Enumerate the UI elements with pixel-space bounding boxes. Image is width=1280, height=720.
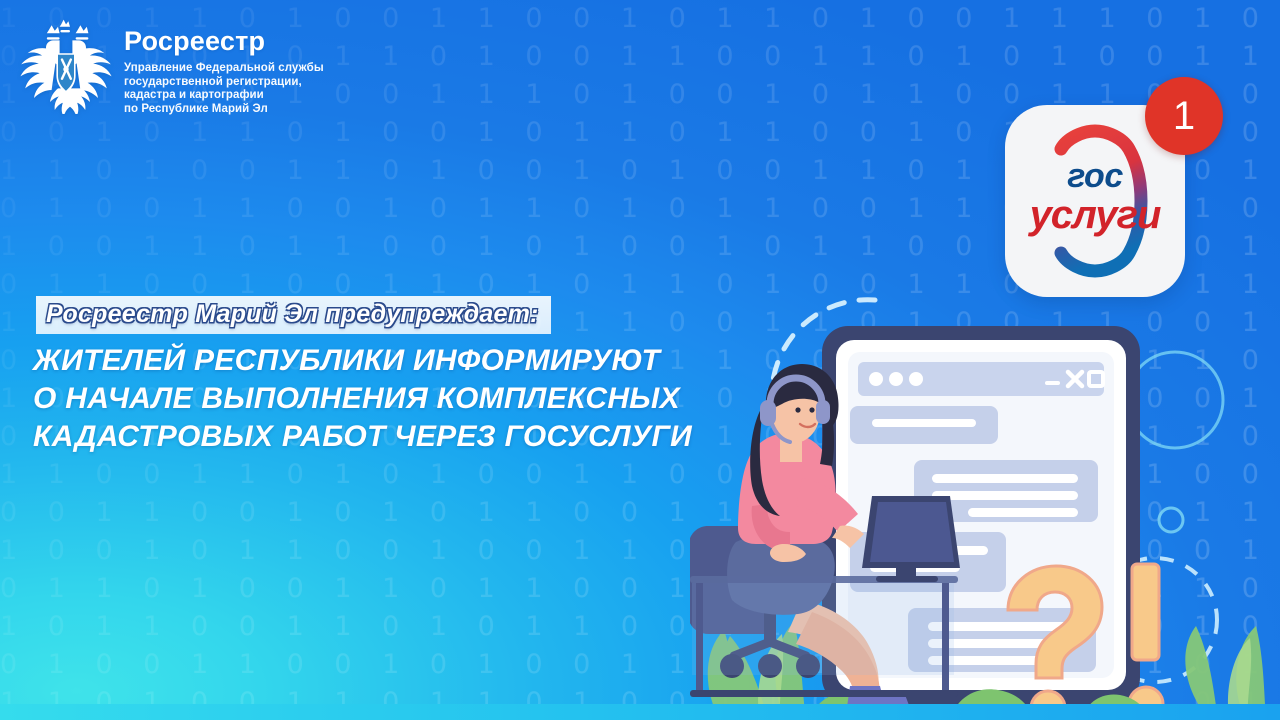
gosuslugi-app-icon[interactable]: гос услуги 1 xyxy=(1005,105,1185,297)
brand-subtitle-line-1: Управление Федеральной службы xyxy=(124,62,324,76)
brand-subtitle-line-4: по Республике Марий Эл xyxy=(124,103,324,117)
notification-badge[interactable]: 1 xyxy=(1145,77,1223,155)
headline: ЖИТЕЛЕЙ РЕСПУБЛИКИ ИНФОРМИРУЮТ О НАЧАЛЕ … xyxy=(33,342,692,456)
kicker-text: Росреестр Марий Эл предупреждает: xyxy=(46,300,539,328)
window-dot-1 xyxy=(869,372,883,386)
banner-canvas: 1 0 0 1 1 0 1 0 0 1 1 0 0 1 0 1 1 0 1 0 … xyxy=(0,0,1280,720)
brand-subtitle: Управление Федеральной службы государств… xyxy=(124,62,324,116)
brand-subtitle-line-3: кадастра и картографии xyxy=(124,89,324,103)
kicker-banner: Росреестр Марий Эл предупреждает: xyxy=(36,296,551,334)
headline-line-1: ЖИТЕЛЕЙ РЕСПУБЛИКИ ИНФОРМИРУЮТ xyxy=(33,342,692,380)
bottom-strip xyxy=(0,704,1280,720)
window-dot-3 xyxy=(909,372,923,386)
brand-title: Росреестр xyxy=(124,28,324,55)
brand-subtitle-line-2: государственной регистрации, xyxy=(124,76,324,90)
gosuslugi-word-bottom: услуги xyxy=(1005,193,1185,238)
gosuslugi-word-top: гос xyxy=(1005,157,1185,196)
notification-count: 1 xyxy=(1173,96,1195,136)
minimize-icon xyxy=(1045,381,1060,385)
brand-header: Росреестр Управление Федеральной службы … xyxy=(18,18,324,116)
headline-line-2: О НАЧАЛЕ ВЫПОЛНЕНИЯ КОМПЛЕКСНЫХ xyxy=(33,380,692,418)
window-dot-2 xyxy=(889,372,903,386)
illustration-operator-scene xyxy=(690,300,1280,720)
headline-line-3: КАДАСТРОВЫХ РАБОТ ЧЕРЕЗ ГОСУСЛУГИ xyxy=(33,418,692,456)
rosreestr-eagle-emblem-icon xyxy=(18,18,114,114)
